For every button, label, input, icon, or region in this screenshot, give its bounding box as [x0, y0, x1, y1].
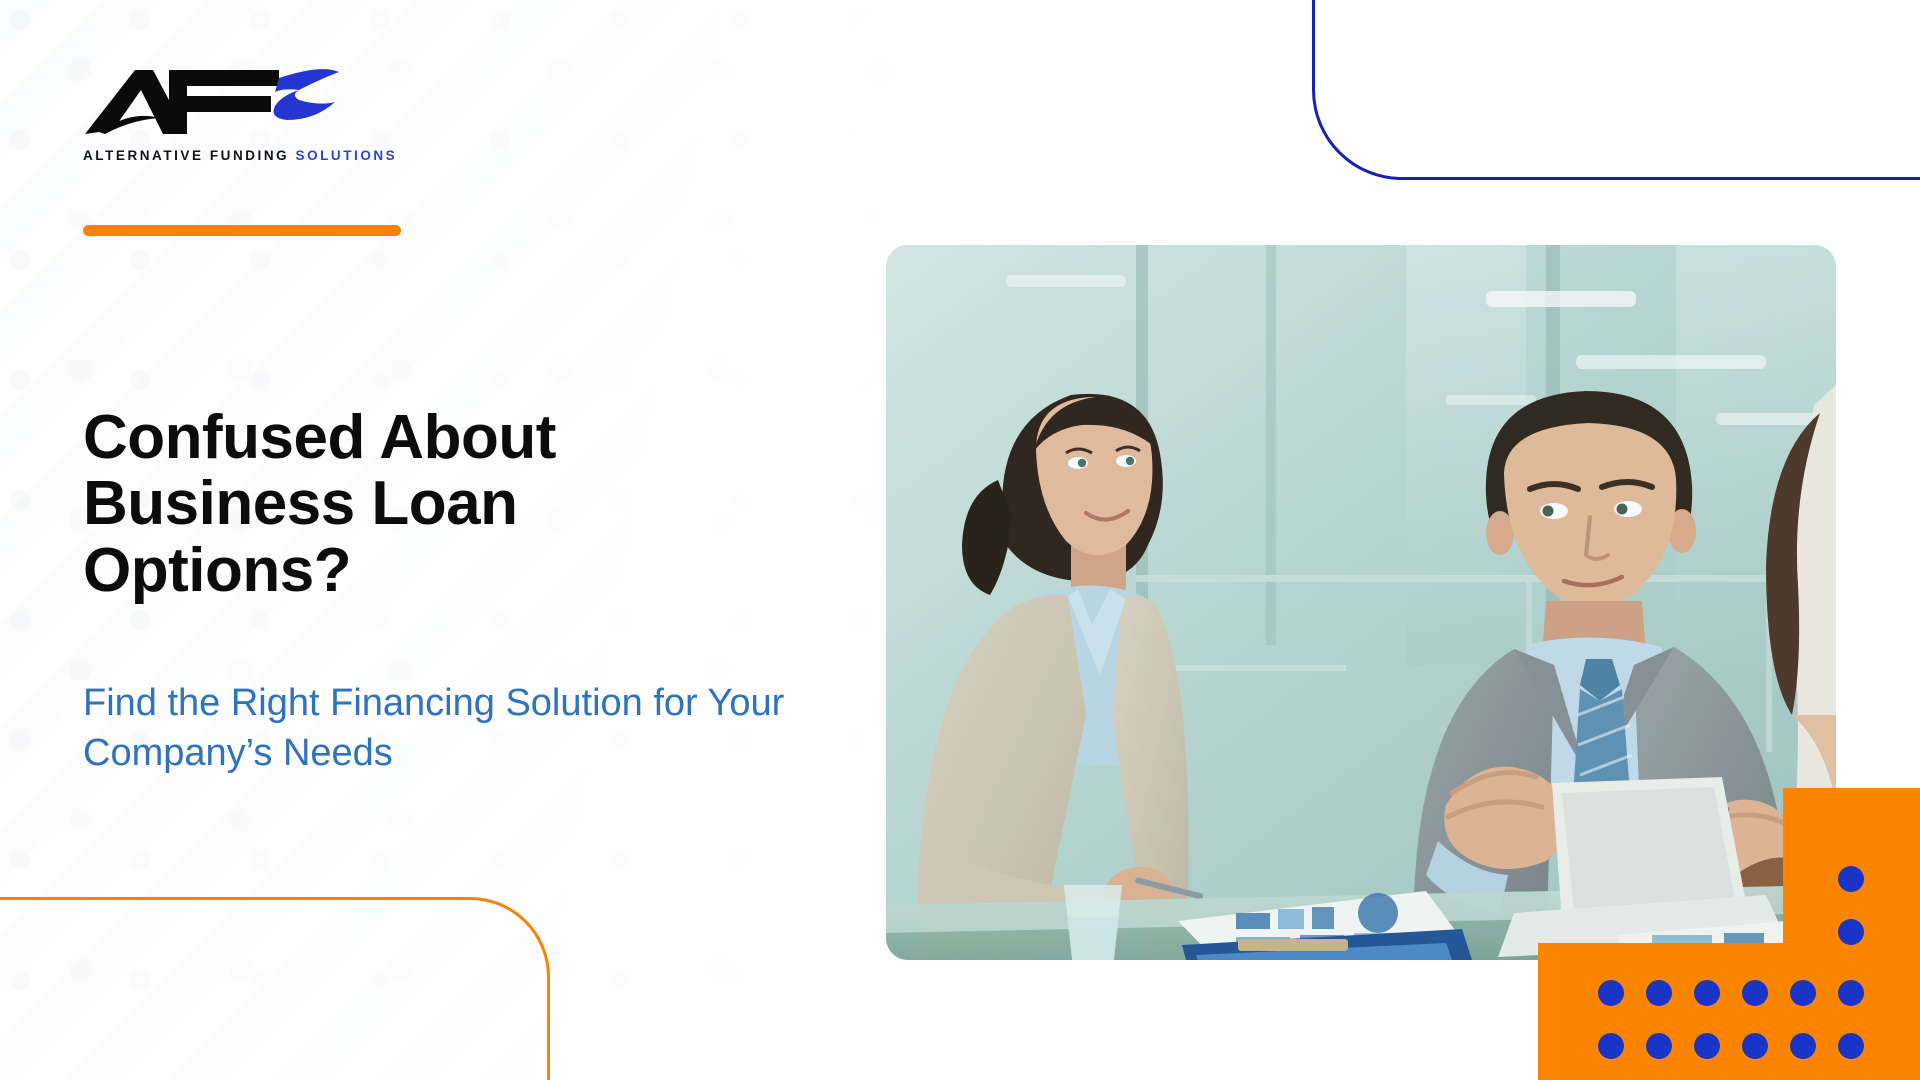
dot-grid-item [1646, 1033, 1672, 1059]
tagline-dark-text: ALTERNATIVE FUNDING [83, 148, 289, 163]
orange-curve-decoration [0, 897, 550, 1080]
page-title: Confused About Business Loan Options? [83, 405, 723, 604]
dot-grid-item [1646, 980, 1672, 1006]
logo-underline-bar [83, 225, 401, 236]
business-meeting-photo [886, 245, 1836, 960]
orange-horizontal-band [1538, 943, 1920, 1080]
hero-image [886, 245, 1836, 960]
dot-grid-item [1838, 980, 1864, 1006]
dot-grid-item [1598, 980, 1624, 1006]
dot-grid-item [1598, 1033, 1624, 1059]
dot-grid-item [1742, 1033, 1768, 1059]
marketing-banner: ALTERNATIVE FUNDING SOLUTIONS Confused A… [0, 0, 1920, 1080]
dot-grid-item [1790, 980, 1816, 1006]
dot-grid-item [1694, 980, 1720, 1006]
dot-grid-item [1694, 1033, 1720, 1059]
blue-curve-decoration [1312, 0, 1920, 180]
brand-tagline: ALTERNATIVE FUNDING SOLUTIONS [83, 148, 383, 163]
dot-grid-item [1838, 1033, 1864, 1059]
dot-grid-item [1742, 980, 1768, 1006]
dot-grid-item [1790, 1033, 1816, 1059]
dot-grid-item [1838, 919, 1864, 945]
afs-logo-icon [83, 62, 343, 142]
dot-grid-item [1838, 866, 1864, 892]
tagline-blue-text: SOLUTIONS [296, 148, 398, 163]
page-subtitle: Find the Right Financing Solution for Yo… [83, 678, 843, 778]
brand-logo[interactable]: ALTERNATIVE FUNDING SOLUTIONS [83, 62, 383, 163]
